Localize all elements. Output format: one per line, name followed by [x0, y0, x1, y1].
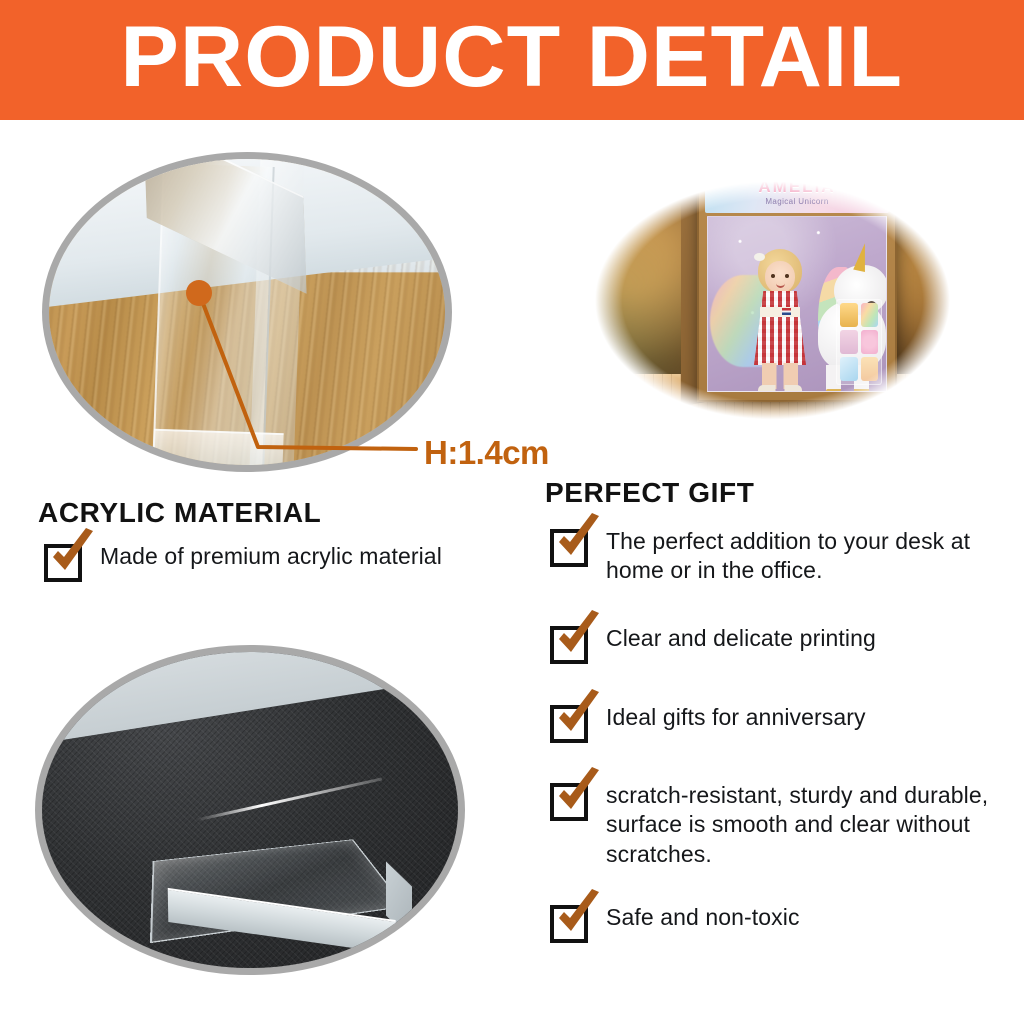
- header-banner: PRODUCT DETAIL: [0, 0, 1024, 120]
- measurement-anchor-dot: [186, 280, 212, 306]
- list-item-label: The perfect addition to your desk at hom…: [606, 527, 990, 586]
- list-item: scratch-resistant, sturdy and durable, s…: [550, 781, 990, 869]
- list-item-label: Clear and delicate printing: [606, 624, 876, 653]
- checked-checkbox-icon: [550, 783, 588, 821]
- list-item-label: scratch-resistant, sturdy and durable, s…: [606, 781, 990, 869]
- list-item-label: Safe and non-toxic: [606, 903, 800, 932]
- doll-shoes: [758, 385, 802, 392]
- doll-gingham-dress: [754, 291, 806, 365]
- accessory-tray: [836, 299, 882, 385]
- crown-accessory-icon: [861, 357, 879, 381]
- package-front-panel: AMELIA Magical Unicorn: [697, 164, 897, 402]
- list-item-label: Made of premium acrylic material: [100, 542, 442, 571]
- doll-smile: [776, 283, 785, 288]
- checked-checkbox-icon: [44, 544, 82, 582]
- package-brand-name: AMELIA: [758, 178, 835, 195]
- checked-checkbox-icon: [550, 529, 588, 567]
- section-heading-perfect-gift: PERFECT GIFT: [545, 477, 754, 509]
- doll-hair-bow: [754, 253, 765, 261]
- checked-checkbox-icon: [550, 905, 588, 943]
- package-subtitle: Magical Unicorn: [765, 198, 828, 206]
- unicorn-hooves: [826, 389, 880, 392]
- flower-accessory-icon: [861, 330, 879, 354]
- package-header-card: AMELIA Magical Unicorn: [705, 171, 889, 213]
- acrylic-block-photo: [35, 645, 465, 975]
- page-title: PRODUCT DETAIL: [121, 14, 904, 106]
- list-item: Ideal gifts for anniversary: [550, 703, 990, 743]
- list-item: Made of premium acrylic material: [44, 542, 514, 582]
- block-edge-highlight: [196, 777, 382, 821]
- rainbow-accessory-icon: [861, 303, 879, 327]
- doll-face: [765, 261, 795, 293]
- storybook-accessory-icon: [840, 330, 858, 354]
- magic-wand-accessory-icon: [840, 303, 858, 327]
- height-measurement-label: H:1.4cm: [424, 434, 549, 472]
- doll-dress-sash: [760, 307, 800, 317]
- acrylic-bottom-edge: [152, 429, 283, 472]
- section-heading-acrylic-material: ACRYLIC MATERIAL: [38, 497, 321, 529]
- list-item: Safe and non-toxic: [550, 903, 990, 943]
- package-clear-window: [707, 216, 887, 392]
- list-item-label: Ideal gifts for anniversary: [606, 703, 866, 732]
- checked-checkbox-icon: [550, 626, 588, 664]
- doll-figure: [746, 249, 814, 392]
- product-package: AMELIA Magical Unicorn: [697, 164, 897, 402]
- doll-flag-badge: [782, 308, 791, 315]
- list-item: Clear and delicate printing: [550, 624, 990, 664]
- acrylic-edge-photo: [42, 152, 452, 472]
- product-detail-infographic: PRODUCT DETAIL AMELI: [0, 0, 1024, 1024]
- gift-box-photo: AMELIA Magical Unicorn: [545, 148, 1000, 453]
- list-item: The perfect addition to your desk at hom…: [550, 527, 990, 586]
- acrylic-block-shape: [154, 764, 416, 960]
- gem-accessory-icon: [840, 357, 858, 381]
- checked-checkbox-icon: [550, 705, 588, 743]
